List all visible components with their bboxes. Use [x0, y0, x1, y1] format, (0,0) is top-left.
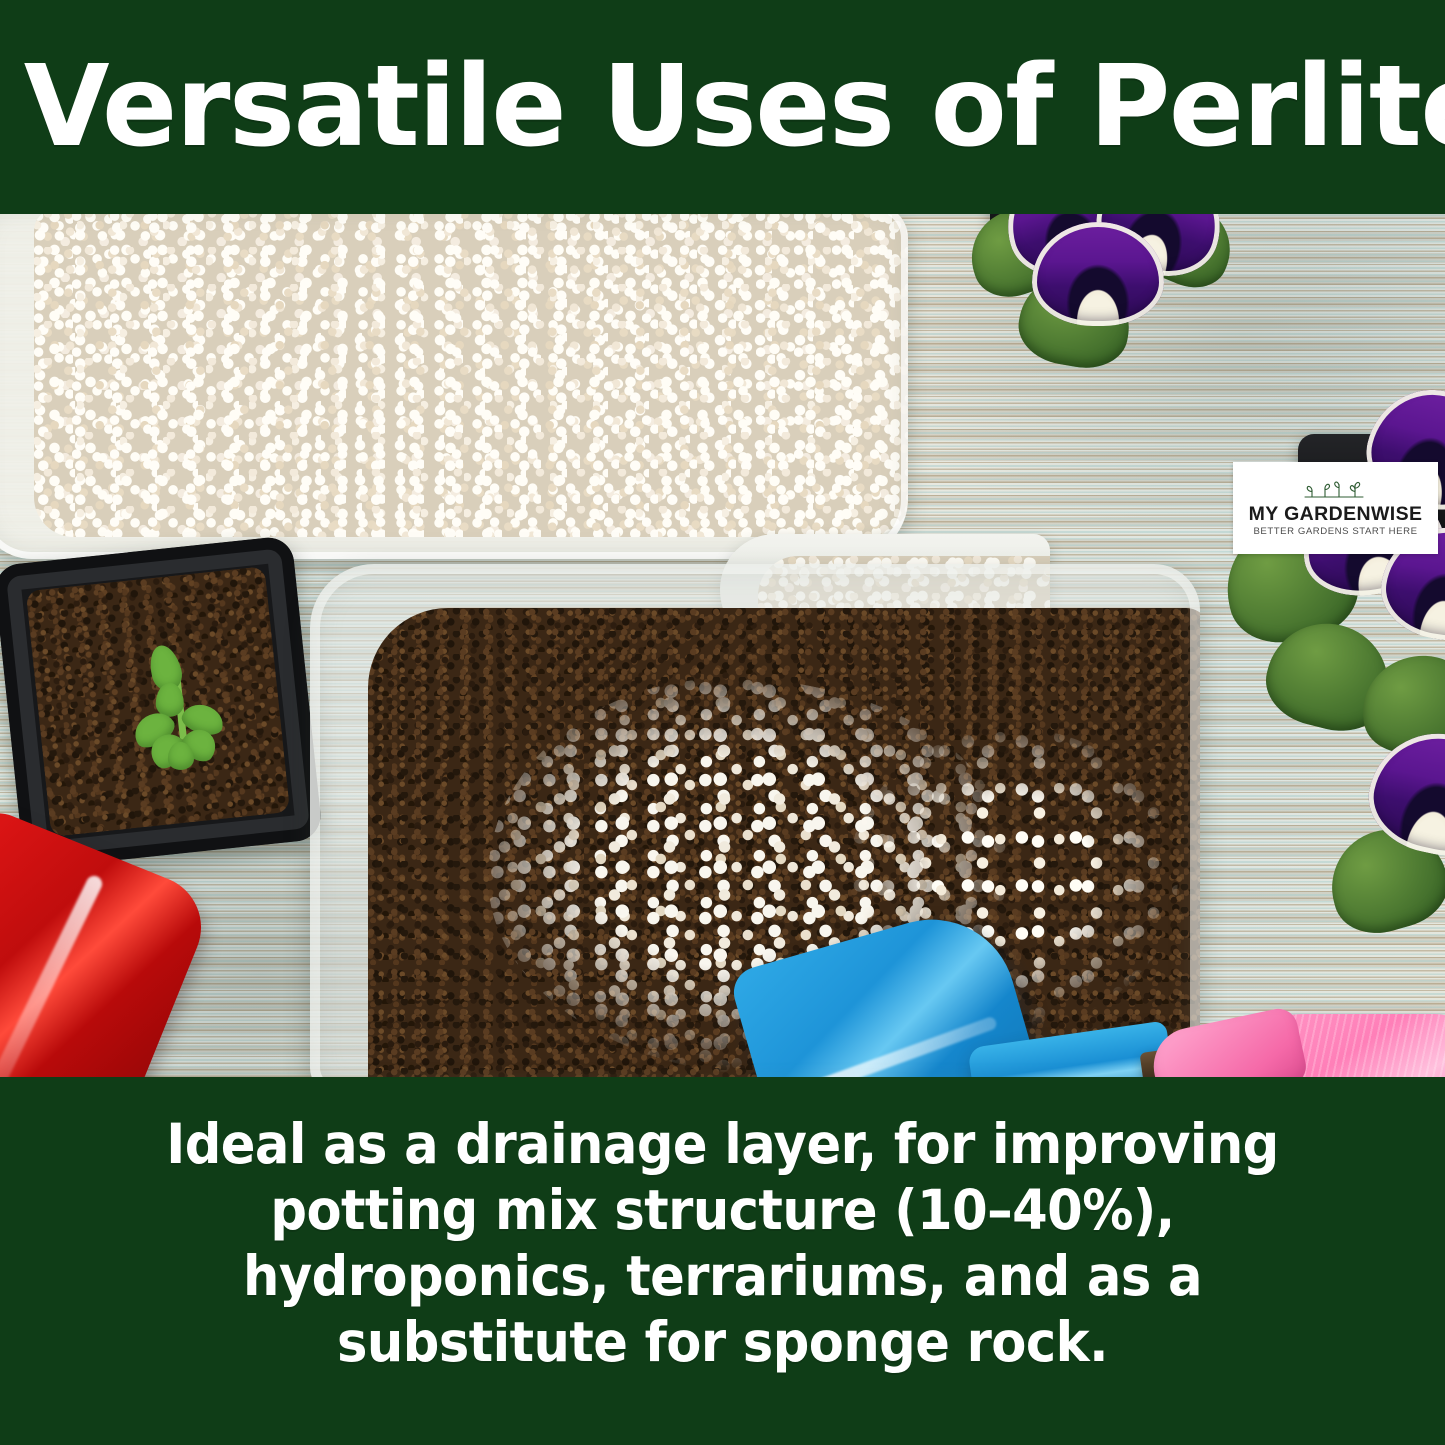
logo-tagline: BETTER GARDENS START HERE: [1253, 527, 1417, 537]
pink-glove: [1175, 1004, 1445, 1077]
green-seedling: [120, 636, 243, 777]
pansy-flower-lower-right: [1330, 734, 1445, 964]
pansy-flower-top: [960, 214, 1240, 394]
seedling-sprouts-icon: [1299, 479, 1373, 503]
perlite-granules: [34, 214, 908, 537]
seedling-pot: [0, 535, 323, 870]
brand-logo: MY GARDENWISE BETTER GARDENS START HERE: [1233, 462, 1438, 554]
photo-area: MY GARDENWISE BETTER GARDENS START HERE: [0, 214, 1445, 1077]
caption-text: Ideal as a drainage layer, for improving…: [51, 1077, 1395, 1375]
caption-banner: Ideal as a drainage layer, for improving…: [0, 1077, 1445, 1445]
perlite-infographic-poster: Versatile Uses of Perlite: [0, 0, 1445, 1445]
logo-brand-name: MY GARDENWISE: [1249, 505, 1423, 525]
pansy-flower-right: [1232, 404, 1445, 724]
title-banner: Versatile Uses of Perlite: [0, 0, 1445, 214]
perlite-tray: [0, 214, 908, 559]
page-title: Versatile Uses of Perlite: [0, 51, 1445, 163]
